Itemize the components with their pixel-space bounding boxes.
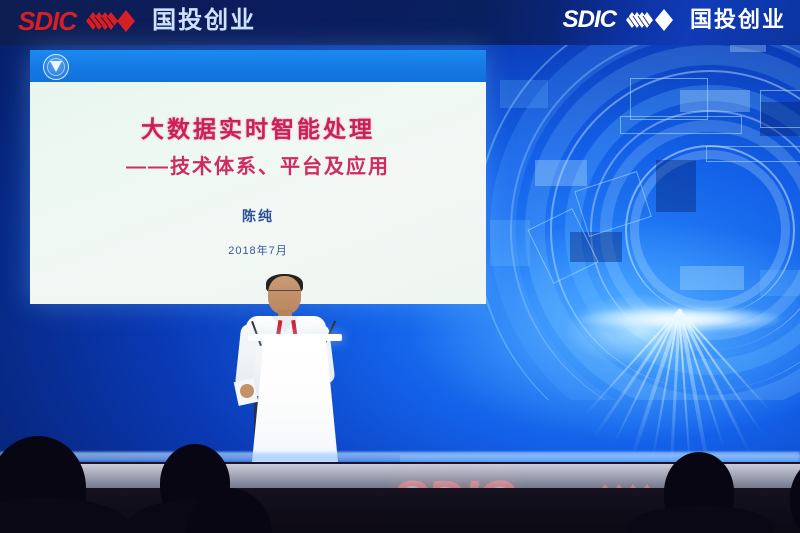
sdic-wordmark-left: SDIC xyxy=(18,8,76,34)
slide-author: 陈纯 xyxy=(30,206,486,226)
slide-date: 2018年7月 xyxy=(30,242,486,258)
slide-header-band xyxy=(30,50,486,82)
banner-logo-right: SDIC 国投创业 xyxy=(563,8,786,32)
speaker-hand xyxy=(240,384,254,398)
university-emblem-icon xyxy=(43,54,69,80)
sdic-diamond-icon-right xyxy=(624,8,678,32)
banner-logo-left: SDIC 国投创业 xyxy=(18,8,256,34)
sdic-diamond-icon-left xyxy=(84,8,140,34)
glasses-icon xyxy=(269,290,300,298)
slide-subtitle: ——技术体系、平台及应用 xyxy=(30,150,486,179)
banner-chinese-left: 国投创业 xyxy=(152,9,256,33)
light-burst-icon xyxy=(430,296,800,476)
slide-body: 大数据实时智能处理 ——技术体系、平台及应用 陈纯 2018年7月 xyxy=(30,82,486,304)
podium-icon xyxy=(252,338,338,462)
slide-title: 大数据实时智能处理 xyxy=(30,110,486,144)
presentation-slide: 大数据实时智能处理 ——技术体系、平台及应用 陈纯 2018年7月 xyxy=(30,50,486,304)
screenshot-root: SDIC 国投创业 SDIC xyxy=(0,0,800,533)
sdic-wordmark-right: SDIC xyxy=(563,8,616,32)
banner-chinese-right: 国投创业 xyxy=(690,9,786,31)
